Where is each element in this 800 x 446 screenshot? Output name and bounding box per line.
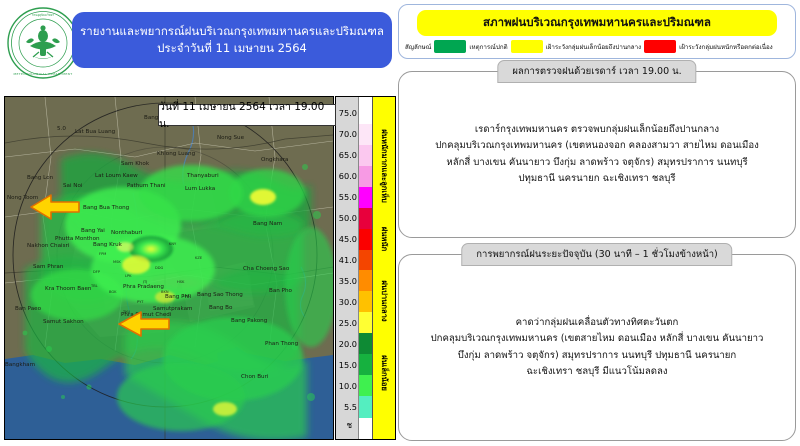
svg-text:Pathum Thani: Pathum Thani <box>127 183 166 189</box>
paragraph-line: ปกคลุมบริเวณกรุงเทพมหานคร (เขตหนองจอก คล… <box>435 138 759 155</box>
nowcast-forecast-section: การพยากรณ์ฝนระยะปัจจุบัน (30 นาที – 1 ชั… <box>398 243 796 441</box>
scale-band-10.0 <box>359 375 372 397</box>
status-panel-title: สภาพฝนบริเวณกรุงเทพมหานครและปริมณฑล <box>417 10 777 36</box>
scale-tick-60.0: 60.0 <box>339 172 357 180</box>
scale-tick-75.0: 75.0 <box>339 109 357 117</box>
paragraph-line: ฉะเชิงเทรา ชลบุรี มีแนวโน้มลดลง <box>526 364 667 381</box>
scale-band-65.0 <box>359 145 372 167</box>
scale-unit-glyph: ช <box>346 421 352 429</box>
scale-tick-5.5: 5.5 <box>344 403 357 411</box>
radar-section-body: เรดาร์กรุงเทพมหานคร ตรวจพบกลุ่มฝนเล็กน้อ… <box>398 71 796 238</box>
svg-text:Ban Paeo: Ban Paeo <box>15 306 42 312</box>
svg-text:HSK: HSK <box>177 280 185 284</box>
svg-text:Bangkham: Bangkham <box>5 362 35 368</box>
radar-observation-section: ผลการตรวจฝนด้วยเรดาร์ เวลา 19.00 น. เรดา… <box>398 60 796 238</box>
paragraph-line: ปทุมธานี นครนายก ฉะเชิงเทรา ชลบุรี <box>518 171 675 188</box>
scale-tick-41.0: 41.0 <box>339 256 357 264</box>
scale-category-0: ฝนหนักมากและลูกเห็บ <box>378 129 390 203</box>
legend-swatch-light-moderate <box>511 40 543 53</box>
scale-tick-20.0: 20.0 <box>339 340 357 348</box>
scale-band-60.0 <box>359 166 372 188</box>
reflectivity-color-scale: 75.070.065.060.055.050.045.041.035.030.0… <box>335 96 396 440</box>
scale-band-20.0 <box>359 333 372 355</box>
svg-text:Bang Lon: Bang Lon <box>27 175 54 181</box>
svg-text:Bang Sao Thong: Bang Sao Thong <box>197 292 243 298</box>
tmd-seal-logo: กรมอุตุนิยมวิทยา METEOROLOGICAL DEPARTME… <box>6 6 80 80</box>
svg-text:Phan Thong: Phan Thong <box>265 341 299 347</box>
scale-tick-10.0: 10.0 <box>339 382 357 390</box>
scale-tick-35.0: 35.0 <box>339 277 357 285</box>
radar-section-label: ผลการตรวจฝนด้วยเรดาร์ เวลา 19.00 น. <box>497 60 696 83</box>
scale-color-bar <box>359 97 372 439</box>
report-title-line2: ประจำวันที่ 11 เมษายน 2564 <box>157 40 307 57</box>
svg-text:KZE: KZE <box>195 256 203 260</box>
map-date-stamp: วันที่ 11 เมษายน 2564 เวลา 19.00 น. <box>158 104 336 126</box>
scale-band-5.5 <box>359 396 372 418</box>
scale-band-35.0 <box>359 270 372 292</box>
scale-band-41.0 <box>359 250 372 272</box>
svg-text:Chon Buri: Chon Buri <box>241 374 269 380</box>
svg-text:Nong Toom: Nong Toom <box>7 195 38 201</box>
svg-text:KNY: KNY <box>169 242 177 246</box>
scale-category-3: ฝนเล็กน้อย <box>378 355 390 391</box>
svg-text:MSK: MSK <box>113 260 121 264</box>
legend-text-light-moderate: เฝ้าระวังกลุ่มฝนเล็กน้อยถึงปานกลาง <box>546 42 642 52</box>
scale-band-25.0 <box>359 312 372 334</box>
svg-text:DDG: DDG <box>155 266 164 270</box>
scale-tick-55.0: 55.0 <box>339 193 357 201</box>
radar-map[interactable]: Bang Srai Lat Bua Luang 5.0 Nong Sue Khl… <box>4 96 334 440</box>
svg-text:Bang Bo: Bang Bo <box>209 305 233 311</box>
svg-text:BKN: BKN <box>161 290 169 294</box>
scale-tick-labels: 75.070.065.060.055.050.045.041.035.030.0… <box>336 97 359 439</box>
svg-text:Ongkhara: Ongkhara <box>261 157 288 163</box>
scale-band-75.0 <box>359 103 372 125</box>
paragraph-line: หลักสี่ บางเขน คันนายาว บึงกุ่ม ลาดพร้าว… <box>446 155 747 172</box>
forecast-section-label: การพยากรณ์ฝนระยะปัจจุบัน (30 นาที – 1 ชั… <box>461 243 732 266</box>
scale-band-30.0 <box>359 291 372 313</box>
scale-tick-65.0: 65.0 <box>339 151 357 159</box>
svg-text:Bang Pakong: Bang Pakong <box>231 318 268 324</box>
legend-swatch-normal <box>434 40 466 53</box>
svg-text:Kra Thoom Baen: Kra Thoom Baen <box>45 286 92 292</box>
svg-text:JTJ: JTJ <box>142 280 147 284</box>
paragraph-line: บึงกุ่ม ลาดพร้าว จตุจักร) สมุทรปราการ นน… <box>458 348 737 365</box>
legend-text-normal: เหตุการณ์ปกติ <box>469 42 507 52</box>
svg-text:TBL: TBL <box>90 284 98 288</box>
svg-text:PYT: PYT <box>137 300 144 304</box>
svg-text:Nonthaburi: Nonthaburi <box>111 230 143 236</box>
status-panel: สภาพฝนบริเวณกรุงเทพมหานครและปริมณฑล สัญล… <box>398 4 796 59</box>
svg-text:Nong Sue: Nong Sue <box>217 135 245 141</box>
svg-text:Sam Phran: Sam Phran <box>33 264 64 270</box>
legend-swatch-heavy <box>644 40 676 53</box>
svg-text:Sam Khok: Sam Khok <box>121 161 150 167</box>
svg-text:Ban Pho: Ban Pho <box>269 288 293 294</box>
svg-text:Phra Pradaeng: Phra Pradaeng <box>123 284 164 290</box>
svg-text:METEOROLOGICAL DEPARTMENT: METEOROLOGICAL DEPARTMENT <box>13 72 72 76</box>
scale-tick-15.0: 15.0 <box>339 361 357 369</box>
scale-band-15.0 <box>359 354 372 376</box>
svg-text:DFP: DFP <box>93 270 101 274</box>
paragraph-line: คาดว่ากลุ่มฝนเคลื่อนตัวทางทิศตะวันตก <box>516 315 679 332</box>
legend-label: สัญลักษณ์ <box>405 42 431 52</box>
svg-text:Lum Lukka: Lum Lukka <box>185 186 215 192</box>
seal-top-text: กรมอุตุนิยมวิทยา <box>32 13 54 18</box>
scale-category-1: ฝนหนัก <box>378 227 390 251</box>
svg-text:Khlong Luang: Khlong Luang <box>157 151 196 157</box>
paragraph-line: ปกคลุมบริเวณกรุงเทพมหานคร (เขตสายไหม ดอน… <box>431 331 764 348</box>
svg-text:TKU: TKU <box>122 310 130 314</box>
report-title-banner: รายงานและพยากรณ์ฝนบริเวณกรุงเทพมหานครและ… <box>72 12 392 68</box>
svg-text:Lat Bua Luang: Lat Bua Luang <box>75 129 116 135</box>
svg-text:FPM: FPM <box>99 252 106 256</box>
svg-text:Samutprakam: Samutprakam <box>153 306 192 312</box>
legend-text-heavy: เฝ้าระวังกลุ่มฝนหนักหรือตกต่อเนื่อง <box>679 42 773 52</box>
svg-text:LPK: LPK <box>125 274 132 278</box>
svg-text:LXK: LXK <box>183 294 190 298</box>
svg-text:Bang Nam: Bang Nam <box>253 221 282 227</box>
svg-text:Bang Bua Thong: Bang Bua Thong <box>83 205 130 211</box>
scale-band-50.0 <box>359 208 372 230</box>
svg-text:Bang Yai: Bang Yai <box>81 228 105 234</box>
scale-category-2: ฝนปานกลาง <box>378 280 390 321</box>
scale-category-labels: ฝนหนักมากและลูกเห็บฝนหนักฝนปานกลางฝนเล็ก… <box>372 97 395 439</box>
forecast-section-body: คาดว่ากลุ่มฝนเคลื่อนตัวทางทิศตะวันตกปกคล… <box>398 254 796 441</box>
paragraph-line: เรดาร์กรุงเทพมหานคร ตรวจพบกลุ่มฝนเล็กน้อ… <box>475 122 719 139</box>
scale-tick-30.0: 30.0 <box>339 298 357 306</box>
svg-text:Samut Sakhon: Samut Sakhon <box>43 319 84 325</box>
svg-text:Sai Noi: Sai Noi <box>63 183 83 189</box>
svg-text:Lat Loum Kaew: Lat Loum Kaew <box>95 173 138 179</box>
legend-row: สัญลักษณ์ เหตุการณ์ปกติ เฝ้าระวังกลุ่มฝน… <box>403 40 791 53</box>
scale-band-55.0 <box>359 187 372 209</box>
svg-text:Thanyaburi: Thanyaburi <box>186 173 219 179</box>
radar-map-canvas: Bang Srai Lat Bua Luang 5.0 Nong Sue Khl… <box>5 97 333 439</box>
svg-text:5.0: 5.0 <box>57 126 66 132</box>
report-title-line1: รายงานและพยากรณ์ฝนบริเวณกรุงเทพมหานครและ… <box>80 23 384 40</box>
svg-text:Nakhon Chaisri: Nakhon Chaisri <box>27 243 70 249</box>
svg-text:BGK: BGK <box>109 290 117 294</box>
scale-band-45.0 <box>359 229 372 251</box>
scale-tick-50.0: 50.0 <box>339 214 357 222</box>
svg-text:Bang Kruk: Bang Kruk <box>93 242 123 248</box>
scale-tick-25.0: 25.0 <box>339 319 357 327</box>
scale-tick-45.0: 45.0 <box>339 235 357 243</box>
scale-tick-70.0: 70.0 <box>339 130 357 138</box>
scale-band-70.0 <box>359 124 372 146</box>
svg-text:Cha Choeng Sao: Cha Choeng Sao <box>243 266 290 272</box>
